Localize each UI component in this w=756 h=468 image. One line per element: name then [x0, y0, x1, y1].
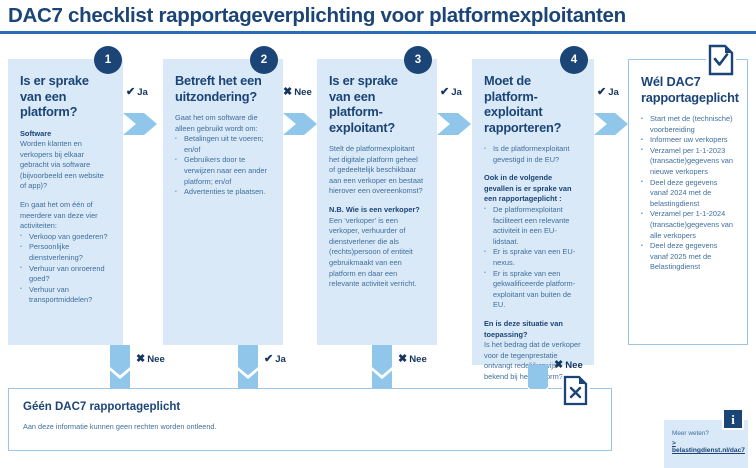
step-badge-4: 4	[560, 46, 588, 74]
step-title-line: van een	[329, 89, 425, 105]
body-paragraph: Gaat het om software die alleen gebruikt…	[175, 113, 271, 134]
check-icon: ✔	[597, 85, 606, 98]
label-no-step2: ✖Nee	[283, 85, 312, 98]
outcome-positive-body: Start met de (technische) voorbereiding …	[641, 114, 735, 273]
step-title-line: uitzondering?	[175, 89, 271, 105]
step-badge-1: 1	[94, 46, 122, 74]
label-no-step3: ✖Nee	[398, 352, 427, 365]
page-header: DAC7 checklist rapportageverplichting vo…	[0, 0, 756, 36]
more-info-box: Meer weten? > belastingdienst.nl/dac7 i	[664, 420, 748, 468]
label-no-step4: ✖Nee	[554, 358, 583, 371]
step-body-1: Software Worden klanten en verkopers bij…	[20, 129, 111, 307]
outcome-title-line: rapportageplicht	[641, 90, 735, 106]
yes-text: Ja	[451, 87, 462, 98]
list-item: Verzamel per 1-1-2024 (transactie)gegeve…	[641, 209, 735, 241]
step-title-3: Is er sprake van een platform- exploitan…	[329, 73, 425, 135]
cross-icon: ✖	[554, 358, 563, 371]
list-item: Verhuur van onroerend goed?	[20, 264, 111, 285]
check-icon: ✔	[264, 352, 273, 365]
step-title-line: exploitant?	[329, 120, 425, 136]
more-info-label: Meer weten?	[672, 429, 740, 438]
step-title-4: Moet de platform- exploitant rapporteren…	[484, 73, 582, 135]
page-title: DAC7 checklist rapportageverplichting vo…	[8, 2, 748, 30]
list-item: Start met de (technische) voorbereiding	[641, 114, 735, 135]
check-icon: ✔	[440, 85, 449, 98]
step-title-line: van een	[20, 89, 111, 105]
info-icon: i	[722, 408, 744, 430]
list-item: Verhuur van transportmiddelen?	[20, 285, 111, 306]
cross-icon: ✖	[136, 352, 145, 365]
body-paragraph: Stelt de platformexploitant het digitale…	[329, 144, 425, 197]
body-heading: N.B. Wie is een verkoper?	[329, 205, 425, 216]
step-title-line: Is er sprake	[20, 73, 111, 89]
document-cross-icon	[562, 375, 590, 412]
cross-icon: ✖	[283, 85, 292, 98]
body-paragraph: Worden klanten en verkopers bij elkaar g…	[20, 139, 111, 192]
body-list: Is de platformexploitant gevestigd in de…	[484, 144, 582, 165]
step-card-4: Moet de platform- exploitant rapporteren…	[472, 59, 594, 365]
outcome-list: Start met de (technische) voorbereiding …	[641, 114, 735, 273]
body-heading: En is deze situatie van toepassing?	[484, 319, 582, 340]
list-item: Persoonlijke dienstverlening?	[20, 242, 111, 263]
body-paragraph: Een ‘verkoper’ is een verkoper, verhuurd…	[329, 216, 425, 290]
outcome-positive-card: Wél DAC7 rapportageplicht Start met de (…	[628, 59, 748, 345]
flowchart: 1 Is er sprake van een platform? Softwar…	[0, 40, 756, 465]
no-text: Nee	[565, 360, 583, 371]
body-list: Betalingen uit te voeren; en/of Gebruike…	[175, 134, 271, 198]
cross-icon: ✖	[398, 352, 407, 365]
list-item: Betalingen uit te voeren; en/of	[175, 134, 271, 155]
step-badge-2: 2	[250, 46, 278, 74]
no-text: Nee	[409, 354, 427, 365]
body-list: Verkoop van goederen? Persoonlijke diens…	[20, 232, 111, 306]
arrow-right-step2-no	[283, 113, 317, 135]
label-yes-step4: ✔Ja	[597, 85, 619, 98]
step-title-line: platform-	[329, 104, 425, 120]
body-list: De platformexploitant faciliteert een re…	[484, 205, 582, 311]
list-item: Er is sprake van een gekwalificeerde pla…	[484, 269, 582, 311]
list-item: Verkoop van goederen?	[20, 232, 111, 243]
list-item: Deel deze gegevens vanaf 2024 met de bel…	[641, 178, 735, 210]
step-title-line: rapporteren?	[484, 120, 582, 136]
step-card-3: Is er sprake van een platform- exploitan…	[317, 59, 437, 345]
list-item: Is de platformexploitant gevestigd in de…	[484, 144, 582, 165]
arrow-down-step3-no	[372, 345, 392, 388]
step-card-1: Is er sprake van een platform? Software …	[8, 59, 123, 345]
list-item: Verzamel per 1-1-2023 (transactie)gegeve…	[641, 146, 735, 178]
header-divider	[0, 31, 756, 34]
label-yes-step2: ✔Ja	[264, 352, 286, 365]
step-title-1: Is er sprake van een platform?	[20, 73, 111, 120]
step-title-line: exploitant	[484, 104, 582, 120]
list-item: Gebruikers door te verwijzen naar een an…	[175, 155, 271, 187]
list-item: Informeer uw verkopers	[641, 135, 735, 146]
arrow-right-step1-yes	[123, 113, 157, 135]
step-body-3: Stelt de platformexploitant het digitale…	[329, 144, 425, 290]
check-icon: ✔	[126, 85, 135, 98]
document-check-icon	[706, 43, 736, 82]
step-title-line: Is er sprake	[329, 73, 425, 89]
list-item: Deel deze gegevens vanaf 2025 met de Bel…	[641, 241, 735, 273]
arrow-right-step3-yes	[437, 113, 471, 135]
step-body-2: Gaat het om software die alleen gebruikt…	[175, 113, 271, 198]
step-title-line: platform?	[20, 104, 111, 120]
arrow-right-step4-yes	[594, 113, 628, 135]
arrow-down-step1-no	[110, 345, 130, 388]
list-item: Er is sprake van een EU-nexus.	[484, 247, 582, 268]
step-title-line: Betreft het een	[175, 73, 271, 89]
arrow-down-step4-no	[528, 365, 548, 388]
step-title-line: platform-	[484, 89, 582, 105]
no-text: Nee	[294, 87, 312, 98]
body-heading: Ook in de volgende gevallen is er sprake…	[484, 173, 582, 205]
more-info-link[interactable]: > belastingdienst.nl/dac7	[672, 440, 740, 454]
list-item: Advertenties te plaatsen.	[175, 187, 271, 198]
step-badge-3: 3	[404, 46, 432, 74]
label-yes-step3: ✔Ja	[440, 85, 462, 98]
body-heading: Software	[20, 129, 111, 140]
list-item: De platformexploitant faciliteert een re…	[484, 205, 582, 247]
step-title-line: Moet de	[484, 73, 582, 89]
outcome-negative-card: Géén DAC7 rapportageplicht Aan deze info…	[8, 388, 612, 451]
body-paragraph: En gaat het om één of meerdere van deze …	[20, 200, 111, 232]
outcome-negative-title: Géén DAC7 rapportageplicht	[23, 401, 597, 413]
label-yes-step1: ✔Ja	[126, 85, 148, 98]
yes-text: Ja	[275, 354, 286, 365]
no-text: Nee	[147, 354, 165, 365]
step-title-2: Betreft het een uitzondering?	[175, 73, 271, 104]
step-body-4: Is de platformexploitant gevestigd in de…	[484, 144, 582, 382]
label-no-step1: ✖Nee	[136, 352, 165, 365]
step-card-2: Betreft het een uitzondering? Gaat het o…	[163, 59, 283, 345]
outcome-negative-disclaimer: Aan deze informatie kunnen geen rechten …	[23, 422, 597, 431]
yes-text: Ja	[608, 87, 619, 98]
yes-text: Ja	[137, 87, 148, 98]
arrow-down-step2-yes	[238, 345, 258, 388]
